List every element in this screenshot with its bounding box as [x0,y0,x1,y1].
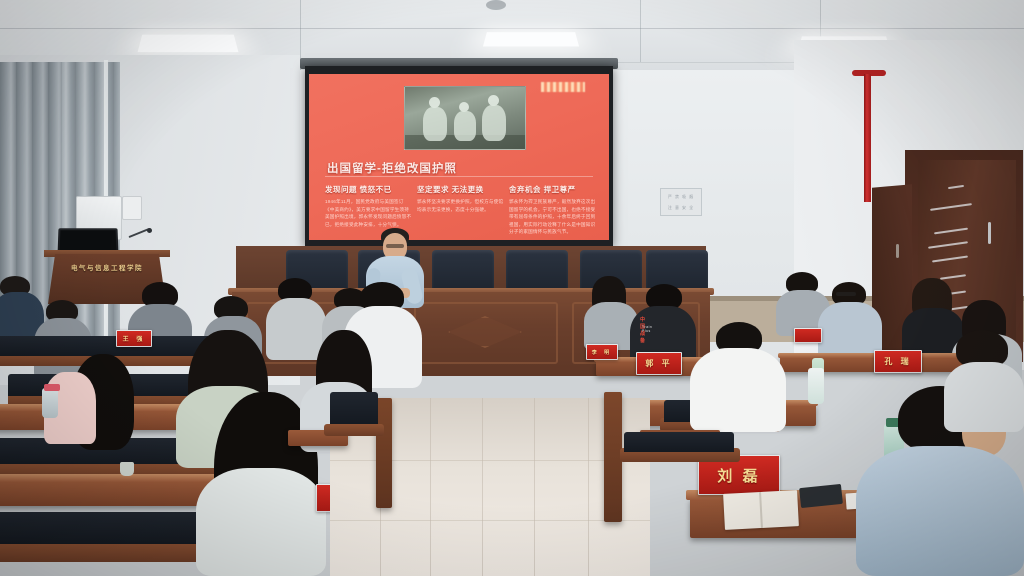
nameplate-face: 孔 瑞 [875,351,921,372]
photo-person-body [482,105,506,141]
slide-column-2-body: 郭永怀坚决要求更换护照，但校方与使馆均表示无法更换，态度十分强硬。 [417,198,505,213]
nameplate-name: 郭 平 [645,358,672,369]
person-torso [266,298,326,360]
nameplate-face: 李 明 [587,345,617,359]
ceiling-seam [0,28,1024,29]
person-glasses [836,292,856,296]
person-torso [690,348,786,432]
cup[interactable] [120,462,134,476]
ceiling-vent-icon [486,0,506,10]
person-torso [944,362,1024,432]
nameplate-face: 王 强 [117,331,151,346]
floor-plank-line [330,520,650,521]
microphone-head [147,228,152,233]
nameplate-name: 王 强 [123,334,146,343]
sprinkler-pipe [864,74,871,202]
nameplate-name: 刘 磊 [717,465,760,486]
water-bottle[interactable] [42,388,58,418]
laptop-screen [60,230,117,251]
wall-notice-sign: 严 禁 吸 烟 注 意 安 全 [660,188,702,216]
floor-plank-line [482,398,483,576]
desk-end-post [376,398,392,508]
jacket-brand-en: Train Plus [642,325,652,333]
photo-person-body [423,107,447,141]
floor-plank-line [588,398,589,576]
photo-person-body [454,111,476,141]
nameplate-name: 李 明 [592,349,612,356]
presentation-slide: 出国留学-拒绝改国护照 发现问题 愤怒不已 1946年11月，国民党政府与美国签… [309,74,609,240]
bottle-cap [44,384,60,391]
slide-column-3-body: 郭永怀为捍卫民族尊严，毅然放弃这次出国留学的机会，宁可不出国，也绝不接受带有屈辱… [509,198,597,236]
slide-column-3: 舍弃机会 捍卫尊严 郭永怀为捍卫民族尊严，毅然放弃这次出国留学的机会，宁可不出国… [509,184,597,236]
door-handle[interactable] [896,244,899,258]
slide-column-3-heading: 舍弃机会 捍卫尊严 [509,184,597,195]
wall-sign-line2: 注 意 安 全 [661,200,701,211]
desk-nameplate: 郭 平 [636,352,682,375]
desk-nameplate: 李 明 [586,344,618,360]
bench-seatback [0,336,216,356]
ceiling-light [483,32,579,46]
person-torso [856,446,1024,576]
desk-nameplate [794,328,822,343]
slide-column-2-heading: 坚定要求 无法更换 [417,184,505,195]
slide-title-underline [325,176,593,177]
person-torso [196,468,326,576]
slide-light-glare [541,82,585,92]
slide-column-1-body: 1946年11月，国民党政府与美国签订《中美商约》，美方要求中国留学生须持美国护… [325,198,413,228]
slide-column-1-heading: 发现问题 愤怒不已 [325,184,413,195]
slide-photo [404,86,526,150]
nameplate-name: 孔 瑞 [884,356,911,367]
bench-seatback [330,392,378,426]
floor-plank-line [534,398,535,576]
presenter-glasses [386,244,404,248]
bench-seatback [624,432,734,452]
floor-plank-line [430,398,431,576]
wall-sign-line1: 严 禁 吸 烟 [661,189,701,200]
slide-column-1: 发现问题 愤怒不已 1946年11月，国民党政府与美国签订《中美商约》，美方要求… [325,184,413,228]
door-handle[interactable] [988,222,991,244]
lecture-hall-photo: 严 禁 吸 烟 注 意 安 全 出国留学-拒绝改国护照 发现问题 愤怒不已 19… [0,0,1024,576]
slide-title: 出国留学-拒绝改国护照 [327,160,457,176]
ceiling-light [138,35,239,52]
bench-rail [324,424,384,436]
nameplate-face [795,329,821,342]
nameplate-face: 郭 平 [637,353,681,374]
slide-column-2: 坚定要求 无法更换 郭永怀坚决要求更换护照，但校方与使馆均表示无法更换，态度十分… [417,184,505,213]
ceiling-panel-line [640,0,641,62]
podium-nameplate-text: 电气与信息工程学院 [52,262,162,272]
water-bottle[interactable] [808,368,824,404]
desk-nameplate: 王 强 [116,330,152,347]
wall-control-panel[interactable] [122,196,142,220]
desk-nameplate: 孔 瑞 [874,350,922,373]
